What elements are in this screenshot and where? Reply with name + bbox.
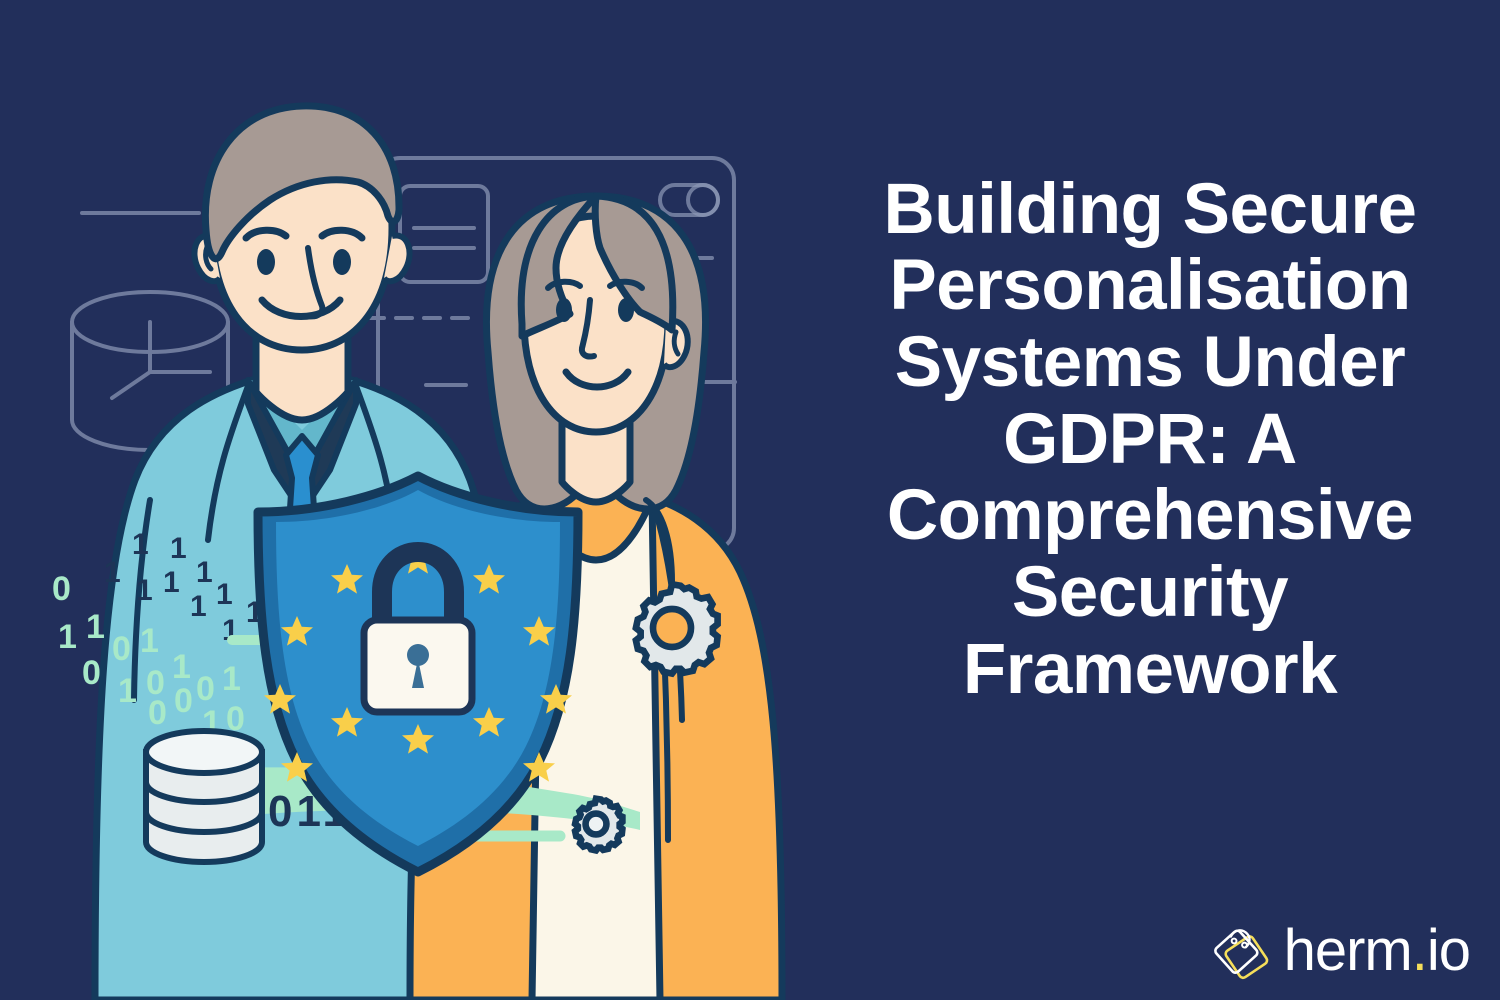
page-title: Building Secure Personalisation Systems … (826, 172, 1474, 709)
svg-text:1: 1 (170, 532, 187, 565)
brand-name-main: herm (1284, 918, 1412, 983)
svg-text:0: 0 (148, 694, 167, 732)
svg-text:0: 0 (174, 682, 193, 720)
gear-large (636, 584, 718, 673)
svg-text:1: 1 (216, 578, 233, 611)
svg-text:0: 0 (52, 570, 71, 608)
brand-name: herm.io (1284, 922, 1470, 980)
brand-name-dot: . (1412, 918, 1427, 983)
svg-text:1: 1 (190, 590, 207, 623)
svg-text:1: 1 (172, 648, 191, 686)
title-block: Building Secure Personalisation Systems … (800, 0, 1500, 880)
svg-text:1: 1 (118, 672, 137, 710)
svg-text:1: 1 (163, 566, 180, 599)
svg-text:1: 1 (86, 608, 105, 646)
svg-text:0: 0 (112, 630, 131, 668)
svg-text:1: 1 (222, 660, 241, 698)
gear-small (575, 799, 622, 851)
hero-illustration: 1 1 1 1 1 1 1 1 1 1 0 1 (0, 0, 800, 1000)
price-tag-icon (1214, 920, 1276, 982)
svg-text:0: 0 (196, 670, 215, 708)
svg-text:1: 1 (140, 622, 159, 660)
svg-text:1: 1 (132, 528, 149, 561)
svg-text:1: 1 (58, 618, 77, 656)
database-cylinder (146, 731, 262, 862)
svg-text:1: 1 (136, 574, 153, 607)
svg-text:0: 0 (82, 654, 101, 692)
brand-logo[interactable]: herm.io (1214, 920, 1470, 982)
brand-name-tld: io (1427, 918, 1470, 983)
svg-text:1: 1 (104, 556, 121, 589)
poster-canvas: 1 1 1 1 1 1 1 1 1 1 0 1 (0, 0, 1500, 1000)
svg-text:1: 1 (196, 556, 213, 589)
